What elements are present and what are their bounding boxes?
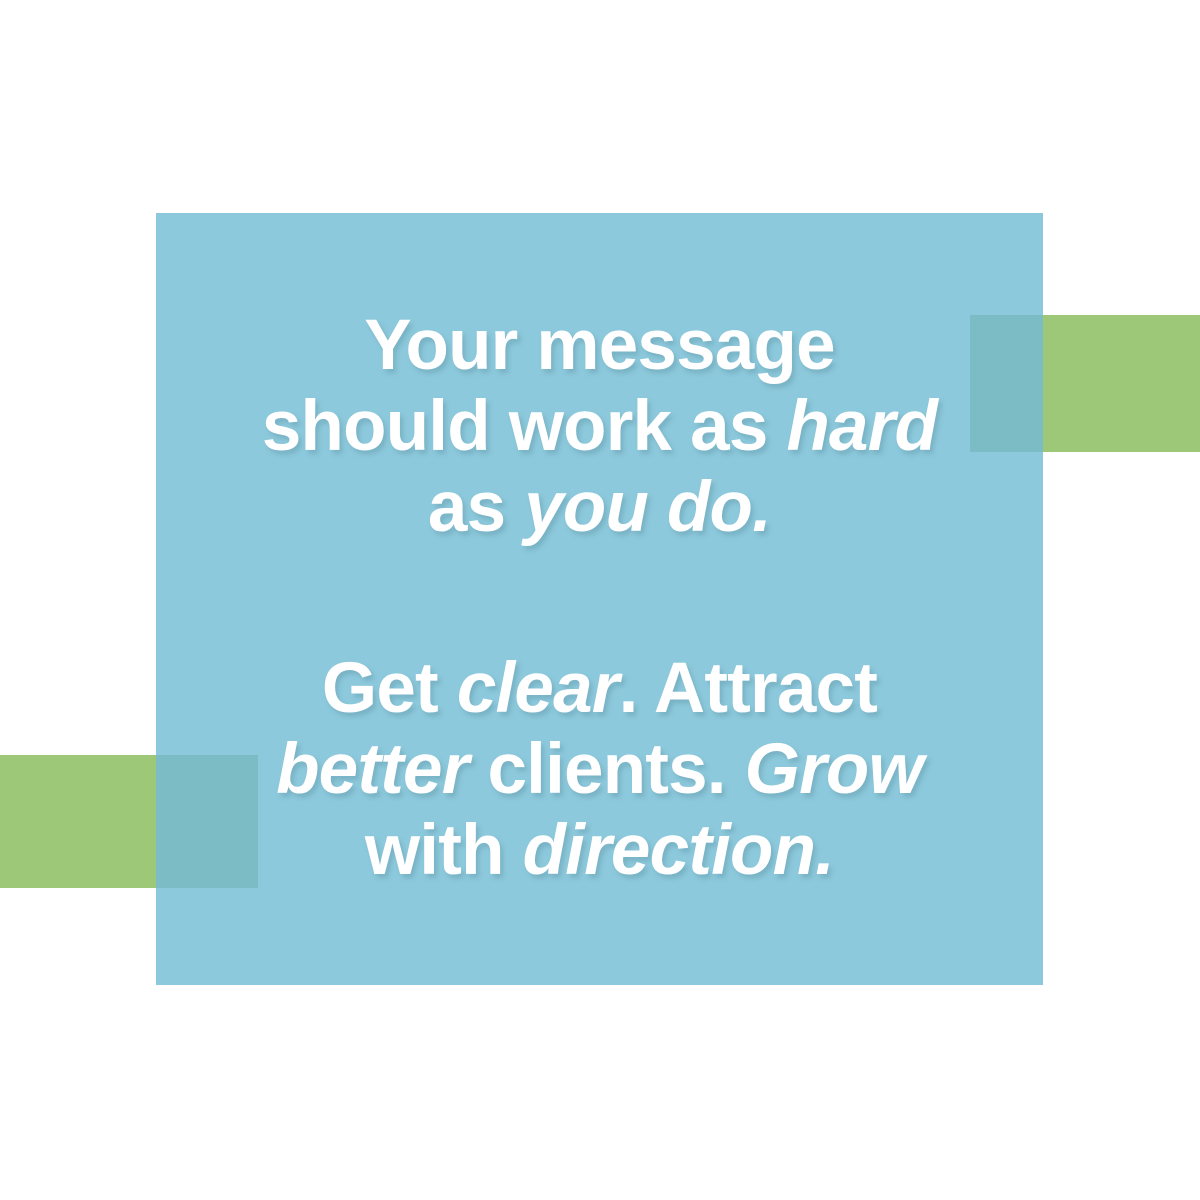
plain-text: Your message [364, 306, 835, 385]
headline-paragraph-one: Your messageshould work as hardas you do… [186, 306, 1013, 549]
quote-text-stack: Your messageshould work as hardas you do… [156, 213, 1043, 985]
plain-text: with [365, 811, 523, 890]
headline-paragraph-two: Get clear. Attractbetter clients. Growwi… [186, 649, 1013, 892]
plain-text: as [428, 468, 524, 547]
emphasis-text: clear [457, 649, 619, 728]
plain-text: Get [322, 649, 457, 728]
plain-text: . Attract [619, 649, 877, 728]
emphasis-text: Grow [745, 730, 923, 809]
emphasis-text: direction. [523, 811, 835, 890]
headline-line: Get clear. Attract [186, 649, 1013, 730]
headline-line: as you do. [186, 468, 1013, 549]
headline-line: with direction. [186, 811, 1013, 892]
headline-line: better clients. Grow [186, 730, 1013, 811]
headline-line: Your message [186, 306, 1013, 387]
emphasis-text: hard [786, 387, 937, 466]
headline-line: should work as hard [186, 387, 1013, 468]
poster-canvas: Your messageshould work as hardas you do… [0, 0, 1200, 1200]
emphasis-text: you do. [524, 468, 771, 547]
plain-text: clients. [469, 730, 745, 809]
plain-text: should work as [262, 387, 787, 466]
emphasis-text: better [276, 730, 468, 809]
